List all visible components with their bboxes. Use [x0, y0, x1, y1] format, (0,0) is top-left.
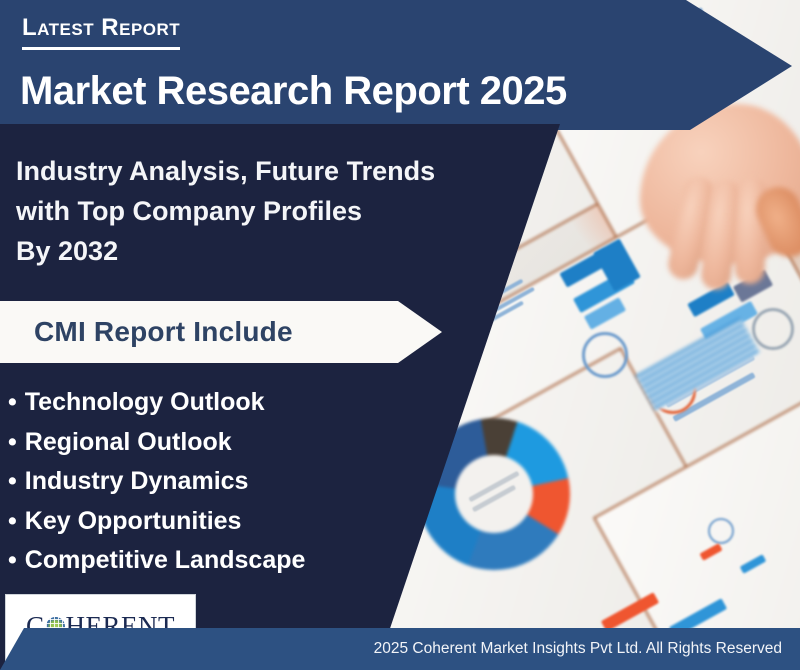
cmi-report-include-banner: CMI Report Include	[0, 301, 442, 363]
list-item: Technology Outlook	[8, 383, 305, 423]
subtitle-line-3: By 2032	[16, 232, 435, 272]
page-title: Market Research Report 2025	[20, 71, 567, 111]
list-item: Regional Outlook	[8, 423, 305, 463]
list-item: Key Opportunities	[8, 502, 305, 542]
list-item: Competitive Landscape	[8, 541, 305, 581]
photo-ring-chart	[708, 518, 734, 544]
list-item: Industry Dynamics	[8, 462, 305, 502]
subtitle-line-2: with Top Company Profiles	[16, 192, 435, 232]
footer-bar: 2025 Coherent Market Insights Pvt Ltd. A…	[0, 628, 800, 670]
report-inclusions-list: Technology Outlook Regional Outlook Indu…	[8, 383, 305, 581]
banner-label: CMI Report Include	[34, 316, 293, 348]
photo-ring-chart	[752, 308, 794, 350]
copyright-text: 2025 Coherent Market Insights Pvt Ltd. A…	[374, 640, 800, 658]
subtitle-block: Industry Analysis, Future Trends with To…	[16, 152, 435, 272]
report-cover-banner: Latest Report Market Research Report 202…	[0, 0, 800, 670]
subtitle-line-1: Industry Analysis, Future Trends	[16, 152, 435, 192]
photo-ring-chart	[582, 332, 628, 378]
kicker-label: Latest Report	[22, 16, 180, 50]
photo-donut-hole	[455, 455, 533, 533]
